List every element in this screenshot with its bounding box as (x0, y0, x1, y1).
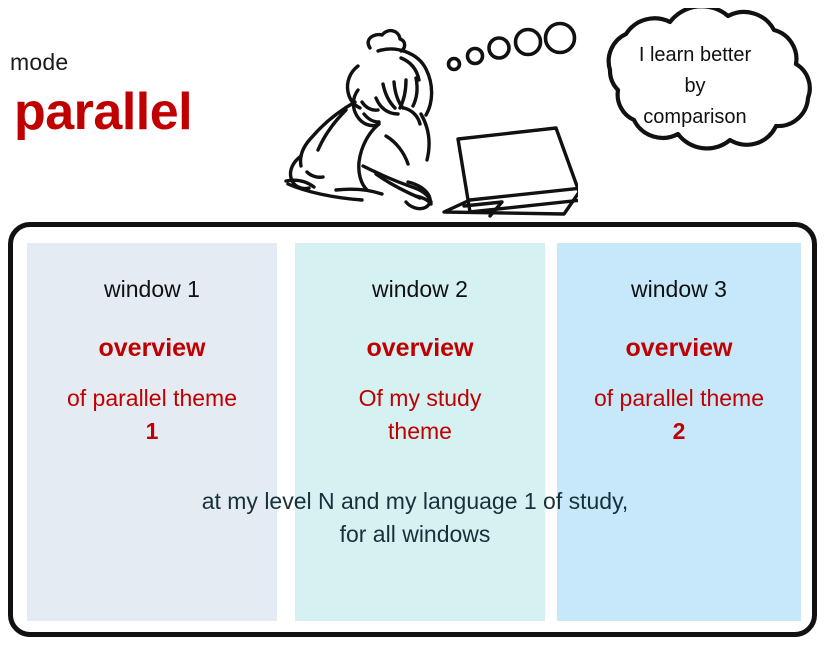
window-panel-2-sub-line: Of my study (295, 382, 545, 415)
window-panel-3-sub-strong: 2 (557, 415, 801, 448)
window-panel-2[interactable]: window 2 overview Of my study theme (295, 243, 545, 621)
windows-caption-line-1: at my level N and my language 1 of study… (90, 485, 740, 518)
thought-dot-3 (489, 38, 509, 58)
thought-dot-4 (516, 30, 541, 55)
window-panel-3-title: window 3 (557, 276, 801, 303)
window-panel-3-overview-label: overview (557, 334, 801, 363)
mode-value: parallel (14, 82, 192, 142)
window-panel-3-sub-line: of parallel theme (557, 382, 801, 415)
windows-caption: at my level N and my language 1 of study… (90, 485, 740, 551)
thought-dot-1 (449, 59, 460, 70)
window-panel-1-subtitle: of parallel theme 1 (27, 382, 277, 448)
window-panel-2-title: window 2 (295, 276, 545, 303)
window-panel-1[interactable]: window 1 overview of parallel theme 1 (27, 243, 277, 621)
window-panel-1-sub-line: of parallel theme (27, 382, 277, 415)
thought-bubble-line-3: comparison (600, 102, 790, 133)
window-panel-2-overview-label: overview (295, 334, 545, 363)
windows-caption-line-2: for all windows (90, 518, 740, 551)
window-panel-1-title: window 1 (27, 276, 277, 303)
mode-label: mode (10, 48, 68, 76)
thought-bubble-line-2: by (600, 71, 790, 102)
window-panel-1-sub-strong: 1 (27, 415, 277, 448)
thought-bubble-text: I learn better by comparison (600, 40, 790, 133)
thought-dot-2 (468, 49, 483, 64)
window-panel-2-sub-strong: theme (295, 415, 545, 448)
window-panel-1-overview-label: overview (27, 334, 277, 363)
window-panel-2-subtitle: Of my study theme (295, 382, 545, 448)
window-panel-3[interactable]: window 3 overview of parallel theme 2 (557, 243, 801, 621)
thought-bubble-line-1: I learn better (600, 40, 790, 71)
window-panel-3-subtitle: of parallel theme 2 (557, 382, 801, 448)
